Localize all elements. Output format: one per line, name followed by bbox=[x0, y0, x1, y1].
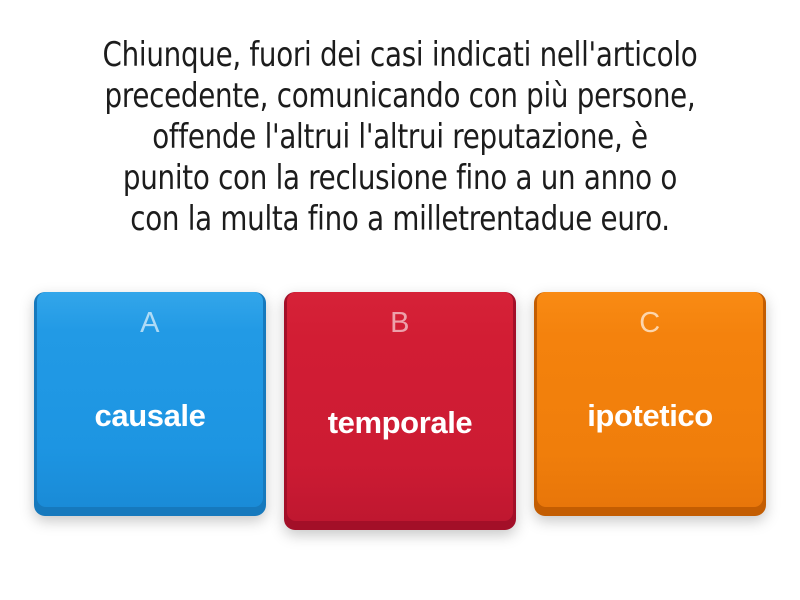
answer-card-c-content: C ipotetico bbox=[534, 292, 766, 507]
answer-card-a-label: causale bbox=[42, 325, 258, 507]
answer-card-c[interactable]: C ipotetico bbox=[534, 292, 766, 516]
answer-card-a[interactable]: A causale bbox=[34, 292, 266, 516]
quiz-screen: Chiunque, fuori dei casi indicati nell'a… bbox=[0, 0, 800, 600]
answer-card-b-label: temporale bbox=[292, 325, 508, 521]
question-text: Chiunque, fuori dei casi indicati nell'a… bbox=[37, 34, 764, 239]
answer-card-b-content: B temporale bbox=[284, 292, 516, 521]
answer-card-b[interactable]: B temporale bbox=[284, 292, 516, 530]
answer-options-row: A causale B temporale C ipotetico bbox=[0, 292, 800, 542]
answer-card-a-content: A causale bbox=[34, 292, 266, 507]
question-area: Chiunque, fuori dei casi indicati nell'a… bbox=[5, 34, 795, 239]
answer-card-c-label: ipotetico bbox=[542, 325, 758, 507]
